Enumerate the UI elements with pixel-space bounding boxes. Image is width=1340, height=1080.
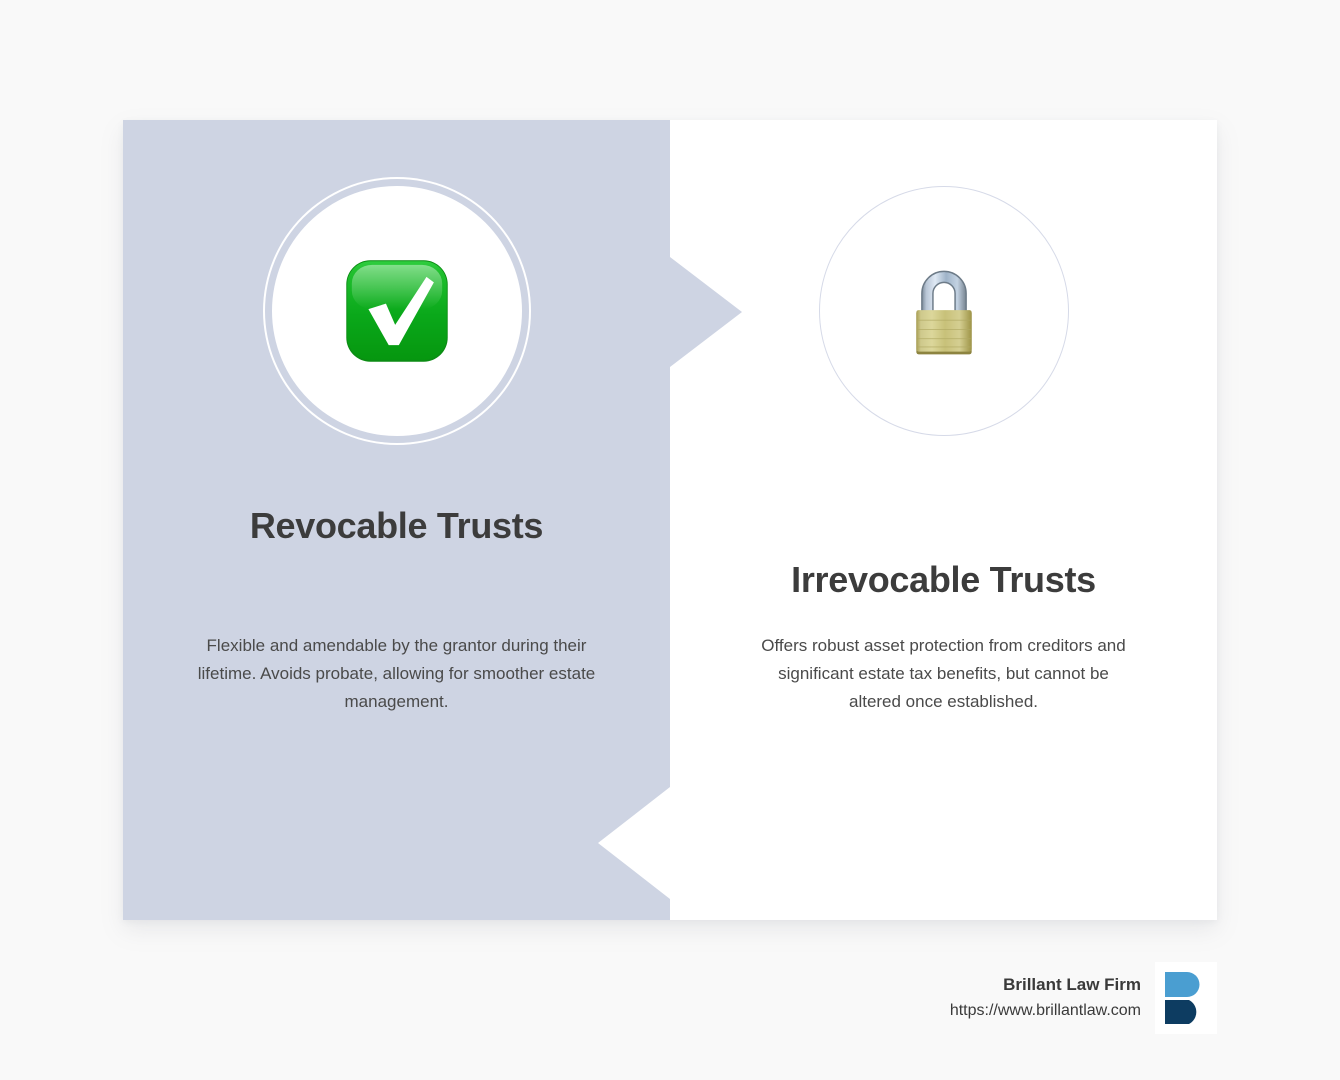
padlock-icon xyxy=(885,252,1003,370)
panel-title-irrevocable: Irrevocable Trusts xyxy=(670,552,1217,608)
brillant-b-logo xyxy=(1163,971,1209,1025)
firm-url[interactable]: https://www.brillantlaw.com xyxy=(950,1000,1141,1022)
logo-tile xyxy=(1155,962,1217,1034)
panel-irrevocable-trusts: Irrevocable Trusts Offers robust asset p… xyxy=(670,120,1217,920)
icon-medallion-left xyxy=(272,186,522,436)
panel-body-revocable: Flexible and amendable by the grantor du… xyxy=(123,632,670,716)
footer-text-block: Brillant Law Firm https://www.brillantla… xyxy=(950,974,1141,1022)
footer-branding: Brillant Law Firm https://www.brillantla… xyxy=(950,962,1217,1034)
panel-revocable-trusts: Revocable Trusts Flexible and amendable … xyxy=(123,120,670,920)
panel-body-irrevocable: Offers robust asset protection from cred… xyxy=(670,632,1217,716)
firm-name: Brillant Law Firm xyxy=(950,974,1141,997)
icon-medallion-right xyxy=(819,186,1069,436)
infographic-card: Revocable Trusts Flexible and amendable … xyxy=(123,120,1217,920)
white-heavy-check-mark-icon xyxy=(338,252,456,370)
panel-title-revocable: Revocable Trusts xyxy=(123,498,670,554)
